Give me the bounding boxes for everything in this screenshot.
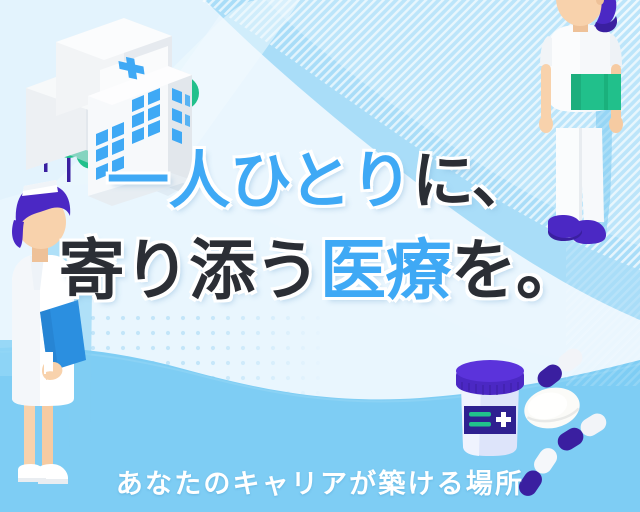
headline-line1-segment-blue: 一人ひとり: [107, 150, 412, 212]
headline-line2-segment-blue: 医療: [320, 238, 451, 304]
tagline-text: あなたのキャリアが築ける場所: [0, 462, 640, 501]
headline-line-1: 一人ひとりに、: [0, 150, 640, 212]
green-folder-icon: [571, 74, 621, 110]
hero-banner: 一人ひとりに、 寄り添う医療を。 あなたのキャリアが築ける場所: [0, 0, 640, 512]
nurse-left-figure: [12, 180, 92, 484]
headline-line2-segment-dark-2: を。: [451, 238, 582, 304]
headline-line1-segment-dark: に、: [412, 150, 533, 212]
headline-line2-segment-dark-1: 寄り添う: [59, 238, 320, 304]
headline-line-2: 寄り添う医療を。: [0, 238, 640, 304]
